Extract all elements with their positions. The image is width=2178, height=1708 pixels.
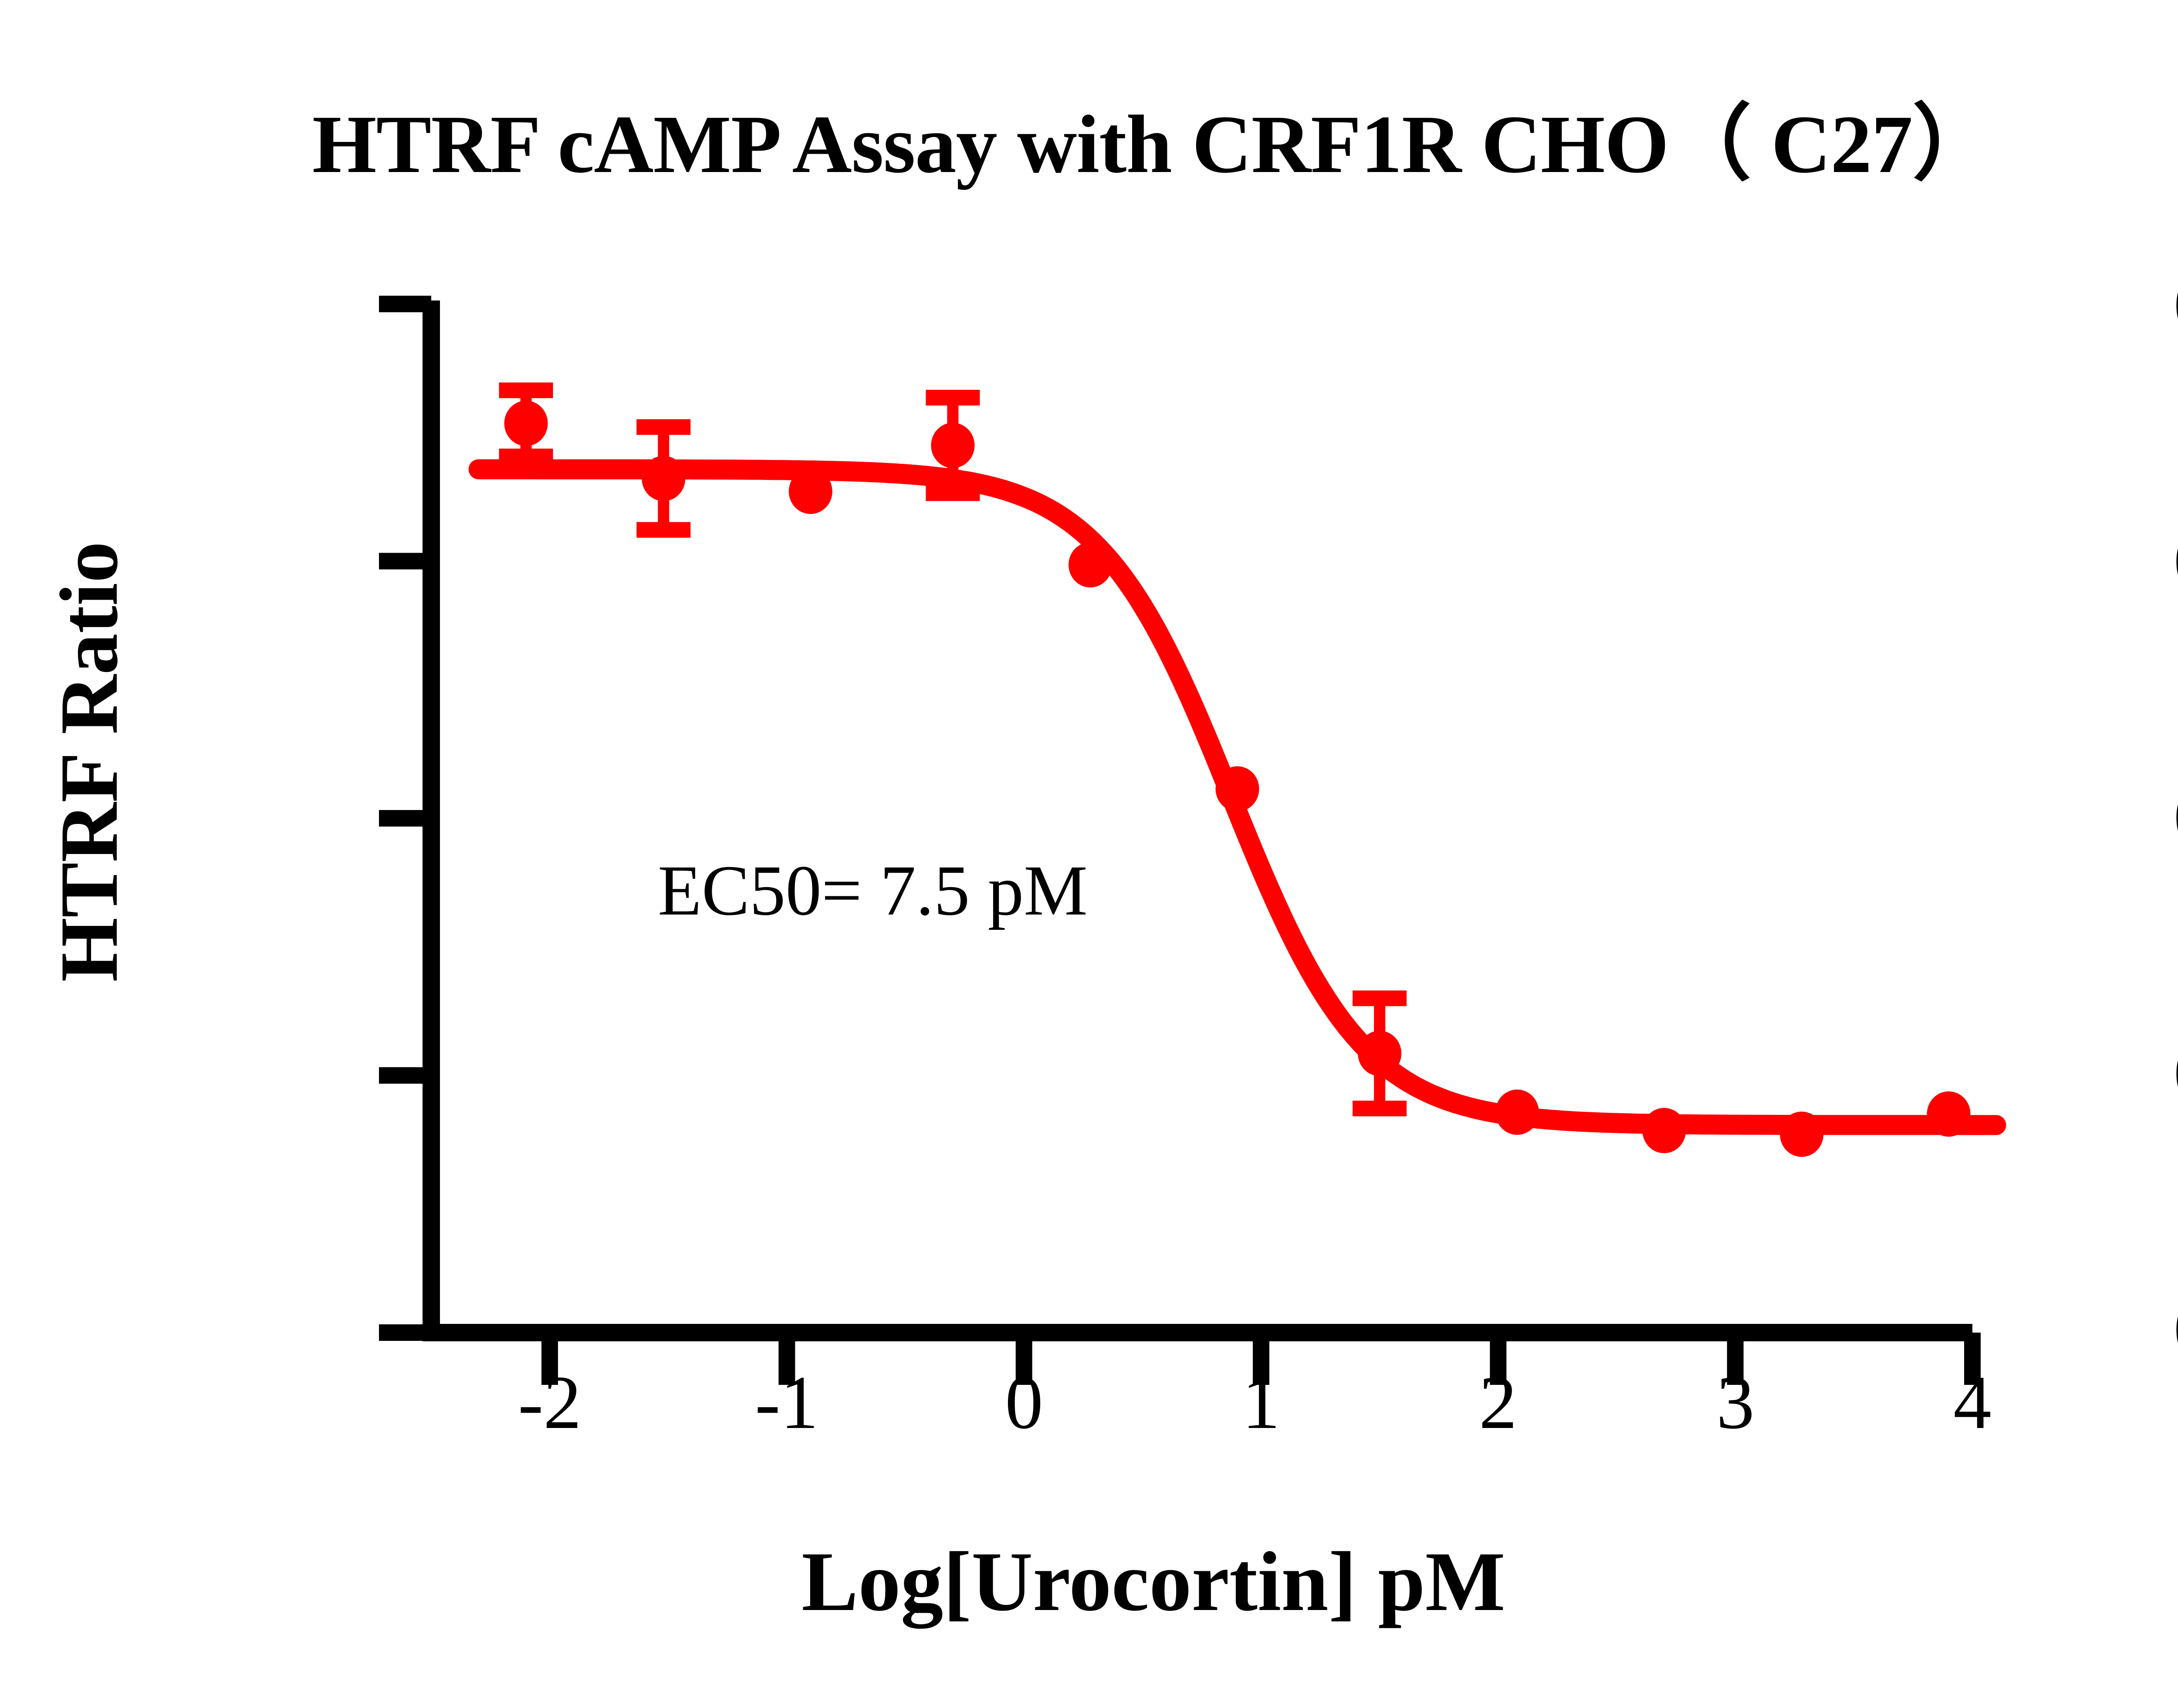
data-point-2 bbox=[789, 469, 832, 514]
error-bars bbox=[499, 390, 1407, 1108]
data-point-5 bbox=[1216, 766, 1259, 812]
data-point-10 bbox=[1927, 1091, 1971, 1137]
data-point-1 bbox=[642, 456, 685, 501]
data-points bbox=[504, 401, 1971, 1157]
data-point-7 bbox=[1495, 1090, 1539, 1135]
chart-figure: HTRF cAMP Assay with CRF1R CHO（ C27） HTR… bbox=[0, 0, 2178, 1708]
data-point-0 bbox=[504, 401, 548, 446]
plot-area bbox=[0, 0, 2178, 1708]
ec50-annotation: EC50= 7.5 pM bbox=[658, 849, 1088, 932]
axis-lines bbox=[423, 300, 1972, 1335]
data-point-6 bbox=[1358, 1031, 1401, 1076]
data-point-3 bbox=[931, 423, 974, 468]
data-point-4 bbox=[1069, 542, 1112, 587]
data-point-9 bbox=[1780, 1111, 1823, 1157]
data-point-8 bbox=[1642, 1108, 1686, 1153]
